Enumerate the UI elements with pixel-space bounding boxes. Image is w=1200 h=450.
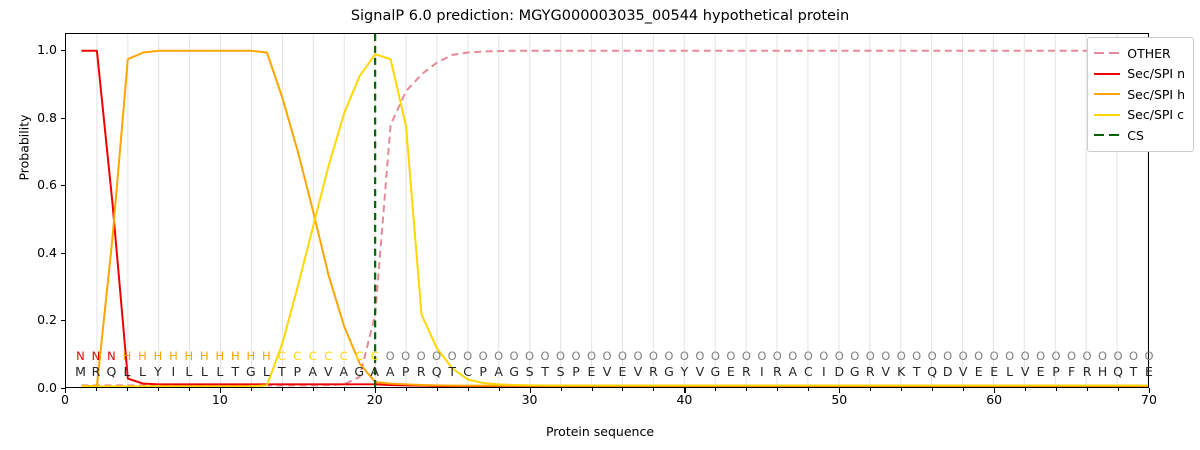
x-minor-tick-mark [932,388,933,391]
x-tick-label: 70 [1129,392,1169,407]
x-tick-label: 40 [664,392,704,407]
x-tick-mark [220,388,221,393]
x-tick-mark [1149,388,1150,393]
y-tick-label: 0.6 [0,177,57,192]
x-minor-tick-mark [1118,388,1119,391]
x-tick-mark [65,388,66,393]
x-minor-tick-mark [1025,388,1026,391]
legend-label: CS [1127,128,1144,143]
legend-swatch [1094,109,1120,121]
y-tick-mark [61,185,66,186]
x-minor-tick-mark [1087,388,1088,391]
x-minor-tick-mark [622,388,623,391]
x-minor-tick-mark [251,388,252,391]
x-minor-tick-mark [437,388,438,391]
x-minor-tick-mark [653,388,654,391]
series-line-sec-spi-c [81,54,1148,386]
x-tick-label: 0 [45,392,85,407]
x-minor-tick-mark [1056,388,1057,391]
x-tick-label: 30 [510,392,550,407]
x-minor-tick-mark [468,388,469,391]
x-tick-mark [684,388,685,393]
legend-swatch [1094,129,1120,141]
x-minor-tick-mark [96,388,97,391]
series-line-other [81,51,1148,386]
legend-item-sec-spi-c[interactable]: Sec/SPI c [1094,105,1185,126]
legend-item-cs[interactable]: CS [1094,125,1185,146]
y-tick-label: 0.2 [0,312,57,327]
x-minor-tick-mark [127,388,128,391]
plot-svg [66,34,1148,387]
x-tick-mark [839,388,840,393]
x-tick-mark [375,388,376,393]
legend-label: Sec/SPI n [1127,66,1185,81]
y-tick-mark [61,320,66,321]
y-axis-label: Probability [17,68,32,228]
x-minor-tick-mark [189,388,190,391]
x-minor-tick-mark [282,388,283,391]
legend-swatch [1094,47,1120,59]
series-line-sec-spi-h [81,51,1148,386]
y-tick-mark [61,118,66,119]
x-tick-label: 10 [200,392,240,407]
legend-label: OTHER [1127,46,1170,61]
x-tick-label: 50 [819,392,859,407]
x-minor-tick-mark [963,388,964,391]
x-axis-label: Protein sequence [0,424,1200,439]
x-minor-tick-mark [561,388,562,391]
x-minor-tick-mark [808,388,809,391]
x-minor-tick-mark [592,388,593,391]
y-tick-label: 0.8 [0,110,57,125]
y-tick-mark [61,50,66,51]
legend-label: Sec/SPI c [1127,107,1184,122]
x-minor-tick-mark [499,388,500,391]
x-minor-tick-mark [715,388,716,391]
legend-label: Sec/SPI h [1127,87,1185,102]
y-tick-label: 1.0 [0,42,57,57]
x-tick-mark [994,388,995,393]
legend-swatch [1094,88,1120,100]
x-tick-label: 60 [974,392,1014,407]
x-minor-tick-mark [870,388,871,391]
x-minor-tick-mark [777,388,778,391]
y-tick-mark [61,253,66,254]
legend-item-other[interactable]: OTHER [1094,43,1185,64]
legend: OTHERSec/SPI nSec/SPI hSec/SPI cCS [1087,37,1194,152]
plot-area [65,33,1149,388]
x-minor-tick-mark [406,388,407,391]
page-title: SignalP 6.0 prediction: MGYG000003035_00… [0,8,1200,24]
x-minor-tick-mark [313,388,314,391]
x-minor-tick-mark [901,388,902,391]
legend-item-sec-spi-h[interactable]: Sec/SPI h [1094,84,1185,105]
x-minor-tick-mark [158,388,159,391]
x-tick-mark [530,388,531,393]
series-line-sec-spi-n [81,51,1148,387]
x-minor-tick-mark [746,388,747,391]
x-tick-label: 20 [355,392,395,407]
legend-swatch [1094,68,1120,80]
legend-item-sec-spi-n[interactable]: Sec/SPI n [1094,64,1185,85]
signalp-prediction-figure: SignalP 6.0 prediction: MGYG000003035_00… [0,0,1200,450]
y-tick-label: 0.4 [0,245,57,260]
x-minor-tick-mark [344,388,345,391]
